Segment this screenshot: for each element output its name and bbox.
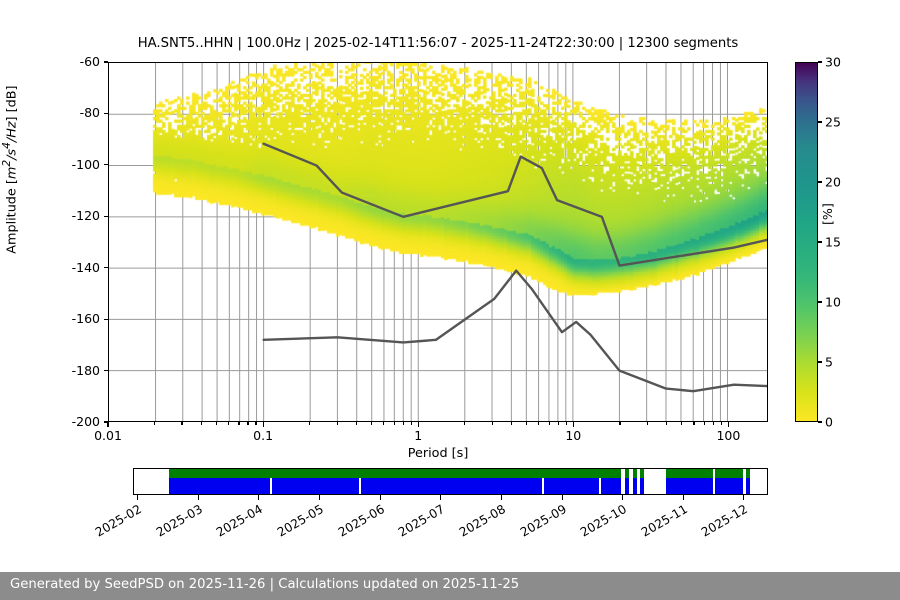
date-tick-label: 2025-11 — [629, 502, 690, 545]
coverage-segment-meta — [640, 469, 644, 478]
x-tick-mark — [573, 422, 574, 427]
coverage-segment-data — [715, 478, 743, 494]
x-tick-mark — [721, 422, 722, 425]
footer-text: Generated by SeedPSD on 2025-11-26 | Cal… — [10, 577, 519, 592]
x-tick-mark — [228, 422, 229, 425]
y-tick-label: -140 — [46, 260, 100, 275]
footer-bar: Generated by SeedPSD on 2025-11-26 | Cal… — [0, 572, 900, 600]
y-axis-label: Amplitude [m2/s4/Hz] [dB] — [0, 0, 19, 350]
date-tick-mark — [137, 495, 138, 500]
x-tick-mark — [309, 422, 310, 425]
x-tick-mark — [356, 422, 357, 425]
colorbar-tick-mark — [818, 301, 822, 302]
x-tick-mark — [411, 422, 412, 425]
x-tick-label: 100 — [716, 428, 740, 443]
coverage-segment-meta — [633, 469, 637, 478]
x-tick-mark — [216, 422, 217, 425]
x-tick-mark — [647, 422, 648, 425]
date-tick-mark — [380, 495, 381, 500]
date-tick-label: 2025-02 — [83, 502, 144, 545]
coverage-segment-meta — [746, 469, 750, 478]
y-tick-label: -80 — [46, 105, 100, 120]
coverage-segment-meta — [715, 469, 743, 478]
coverage-segment-data — [633, 478, 637, 494]
coverage-segment-data — [361, 478, 543, 494]
x-tick-mark — [154, 422, 155, 425]
colorbar-tick-mark — [818, 241, 822, 242]
x-tick-mark — [403, 422, 404, 425]
coverage-segment-meta — [625, 469, 629, 478]
x-tick-mark — [181, 422, 182, 425]
x-tick-mark — [549, 422, 550, 425]
y-tick-label: -180 — [46, 363, 100, 378]
colorbar-tick-label: 5 — [825, 355, 833, 370]
x-tick-mark — [728, 422, 729, 427]
colorbar-tick-label: 10 — [825, 295, 841, 310]
y-tick-mark — [104, 267, 108, 268]
x-tick-mark — [558, 422, 559, 425]
y-tick-mark — [104, 61, 108, 62]
date-tick-label: 2025-12 — [690, 502, 751, 545]
colorbar-tick-label: 30 — [825, 55, 841, 70]
y-tick-mark — [104, 113, 108, 114]
date-tick-mark — [622, 495, 623, 500]
data-coverage-timeline[interactable] — [133, 468, 768, 495]
y-tick-label: -200 — [46, 414, 100, 429]
coverage-segment-data — [272, 478, 359, 494]
x-tick-label: 0.1 — [253, 428, 273, 443]
x-tick-label: 0.01 — [94, 428, 122, 443]
x-tick-mark — [704, 422, 705, 425]
date-tick-label: 2025-09 — [508, 502, 569, 545]
x-axis-label: Period [s] — [108, 446, 768, 461]
y-tick-label: -60 — [46, 54, 100, 69]
x-tick-mark — [201, 422, 202, 425]
coverage-segment-meta — [169, 469, 622, 478]
x-tick-mark — [247, 422, 248, 425]
colorbar-tick-mark — [818, 181, 822, 182]
date-tick-mark — [319, 495, 320, 500]
x-tick-label: 1 — [414, 428, 422, 443]
colorbar-tick-label: 25 — [825, 115, 841, 130]
y-tick-label: -120 — [46, 208, 100, 223]
date-tick-mark — [440, 495, 441, 500]
coverage-segment-data — [666, 478, 714, 494]
x-tick-mark — [107, 422, 108, 427]
x-tick-mark — [337, 422, 338, 425]
x-tick-mark — [492, 422, 493, 425]
colorbar — [795, 62, 818, 422]
x-tick-mark — [666, 422, 667, 425]
colorbar-tick-mark — [818, 61, 822, 62]
x-tick-mark — [418, 422, 419, 427]
x-tick-mark — [526, 422, 527, 425]
x-tick-mark — [394, 422, 395, 425]
date-tick-label: 2025-08 — [447, 502, 508, 545]
x-tick-mark — [255, 422, 256, 425]
x-tick-mark — [263, 422, 264, 427]
colorbar-tick-mark — [818, 361, 822, 362]
ppsd-plot-area[interactable] — [108, 62, 768, 422]
x-tick-mark — [371, 422, 372, 425]
coverage-segment-data — [640, 478, 644, 494]
x-tick-mark — [464, 422, 465, 425]
coverage-segment-data — [544, 478, 599, 494]
y-tick-mark — [104, 319, 108, 320]
y-tick-mark — [104, 216, 108, 217]
colorbar-tick-label: 0 — [825, 415, 833, 430]
date-tick-mark — [683, 495, 684, 500]
x-tick-mark — [566, 422, 567, 425]
date-tick-label: 2025-10 — [568, 502, 629, 545]
y-tick-mark — [104, 370, 108, 371]
x-tick-mark — [693, 422, 694, 425]
date-tick-label: 2025-06 — [326, 502, 387, 545]
date-tick-label: 2025-05 — [265, 502, 326, 545]
ppsd-figure: HA.SNT5..HHN | 100.0Hz | 2025-02-14T11:5… — [0, 0, 900, 600]
y-tick-label: -160 — [46, 311, 100, 326]
coverage-segment-data — [625, 478, 629, 494]
page-title: HA.SNT5..HHN | 100.0Hz | 2025-02-14T11:5… — [108, 36, 768, 51]
y-tick-mark — [104, 164, 108, 165]
x-tick-label: 10 — [565, 428, 581, 443]
colorbar-unit-label: [%] — [820, 203, 835, 225]
coverage-segment-data — [169, 478, 270, 494]
date-tick-label: 2025-04 — [205, 502, 266, 545]
x-tick-mark — [681, 422, 682, 425]
x-tick-mark — [619, 422, 620, 425]
colorbar-tick-mark — [818, 421, 822, 422]
coverage-segment-meta — [666, 469, 714, 478]
colorbar-tick-mark — [818, 121, 822, 122]
date-tick-label: 2025-07 — [386, 502, 447, 545]
y-tick-label: -100 — [46, 157, 100, 172]
date-tick-mark — [258, 495, 259, 500]
x-tick-mark — [238, 422, 239, 425]
x-tick-mark — [383, 422, 384, 425]
coverage-segment-data — [601, 478, 621, 494]
x-tick-mark — [511, 422, 512, 425]
x-tick-mark — [538, 422, 539, 425]
date-tick-mark — [501, 495, 502, 500]
x-tick-mark — [713, 422, 714, 425]
date-tick-mark — [198, 495, 199, 500]
coverage-segment-data — [746, 478, 750, 494]
date-tick-mark — [743, 495, 744, 500]
noise-model-curves — [109, 63, 767, 422]
colorbar-tick-label: 15 — [825, 235, 841, 250]
date-tick-mark — [562, 495, 563, 500]
date-tick-label: 2025-03 — [144, 502, 205, 545]
colorbar-tick-label: 20 — [825, 175, 841, 190]
